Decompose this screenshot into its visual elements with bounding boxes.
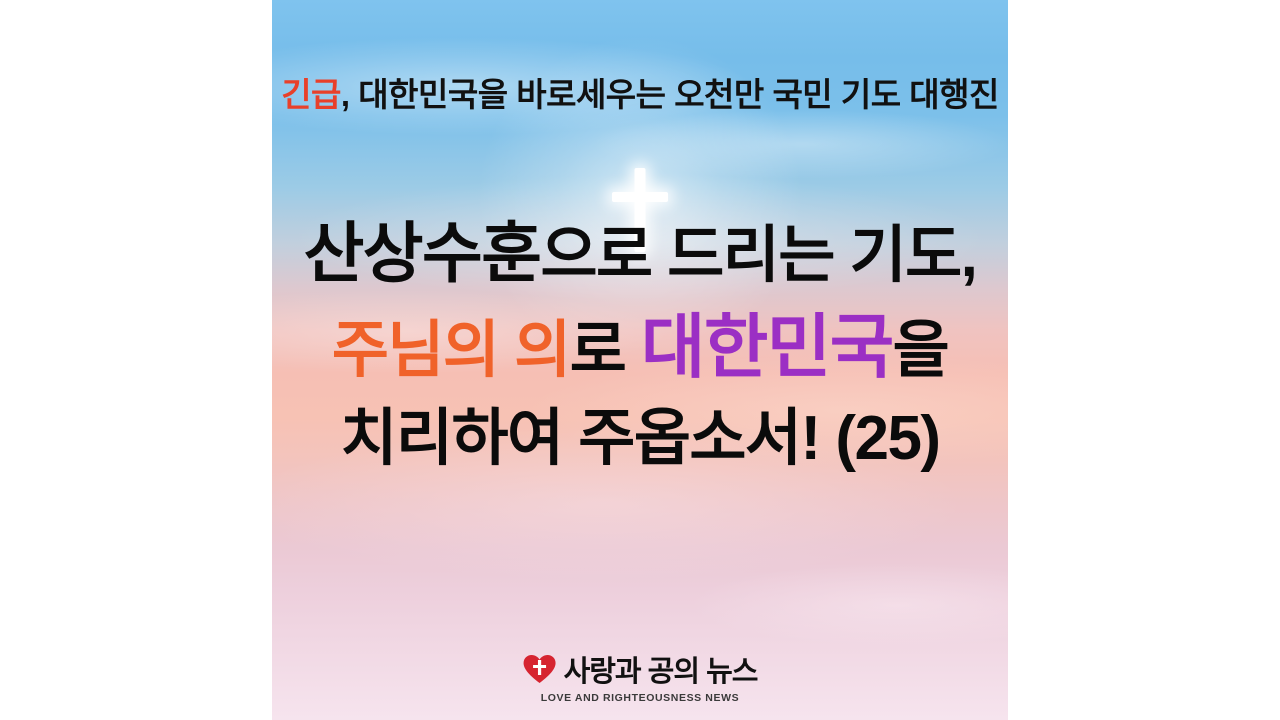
logo-name-ko: 사랑과 공의 뉴스: [564, 648, 758, 690]
kicker-rest-label: , 대한민국을 바로세우는 오천만 국민 기도 대행진: [341, 76, 999, 113]
headline-line-1: 산상수훈으로 드리는 기도,: [0, 208, 1280, 299]
kicker-urgent-label: 긴급: [281, 76, 341, 113]
headline-line2-suffix: 을: [893, 316, 949, 385]
heart-cross-icon: [523, 653, 557, 685]
kicker-line: 긴급, 대한민국을 바로세우는 오천만 국민 기도 대행진: [0, 68, 1280, 116]
logo-name-en: LOVE AND RIGHTEOUSNESS NEWS: [541, 692, 739, 704]
logo: 사랑과 공의 뉴스 LOVE AND RIGHTEOUSNESS NEWS: [523, 648, 758, 704]
headline-lords-righteousness-label: 주님의 의: [332, 316, 570, 385]
logo-row: 사랑과 공의 뉴스: [523, 648, 758, 690]
headline-line1-rest: 으로 드리는 기도,: [540, 221, 976, 290]
headline: 산상수훈으로 드리는 기도, 주님의 의로 대한민국을 치리하여 주옵소서! (…: [0, 208, 1280, 481]
headline-line2-connector: 로: [570, 316, 641, 385]
headline-korea-label: 대한민국: [641, 308, 893, 386]
text-overlay: 긴급, 대한민국을 바로세우는 오천만 국민 기도 대행진 산상수훈으로 드리는…: [0, 0, 1280, 720]
headline-line-3: 치리하여 주옵소서! (25): [0, 396, 1280, 482]
headline-sermon-label: 산상수훈: [304, 216, 541, 290]
headline-line-2: 주님의 의로 대한민국을: [0, 299, 1280, 396]
